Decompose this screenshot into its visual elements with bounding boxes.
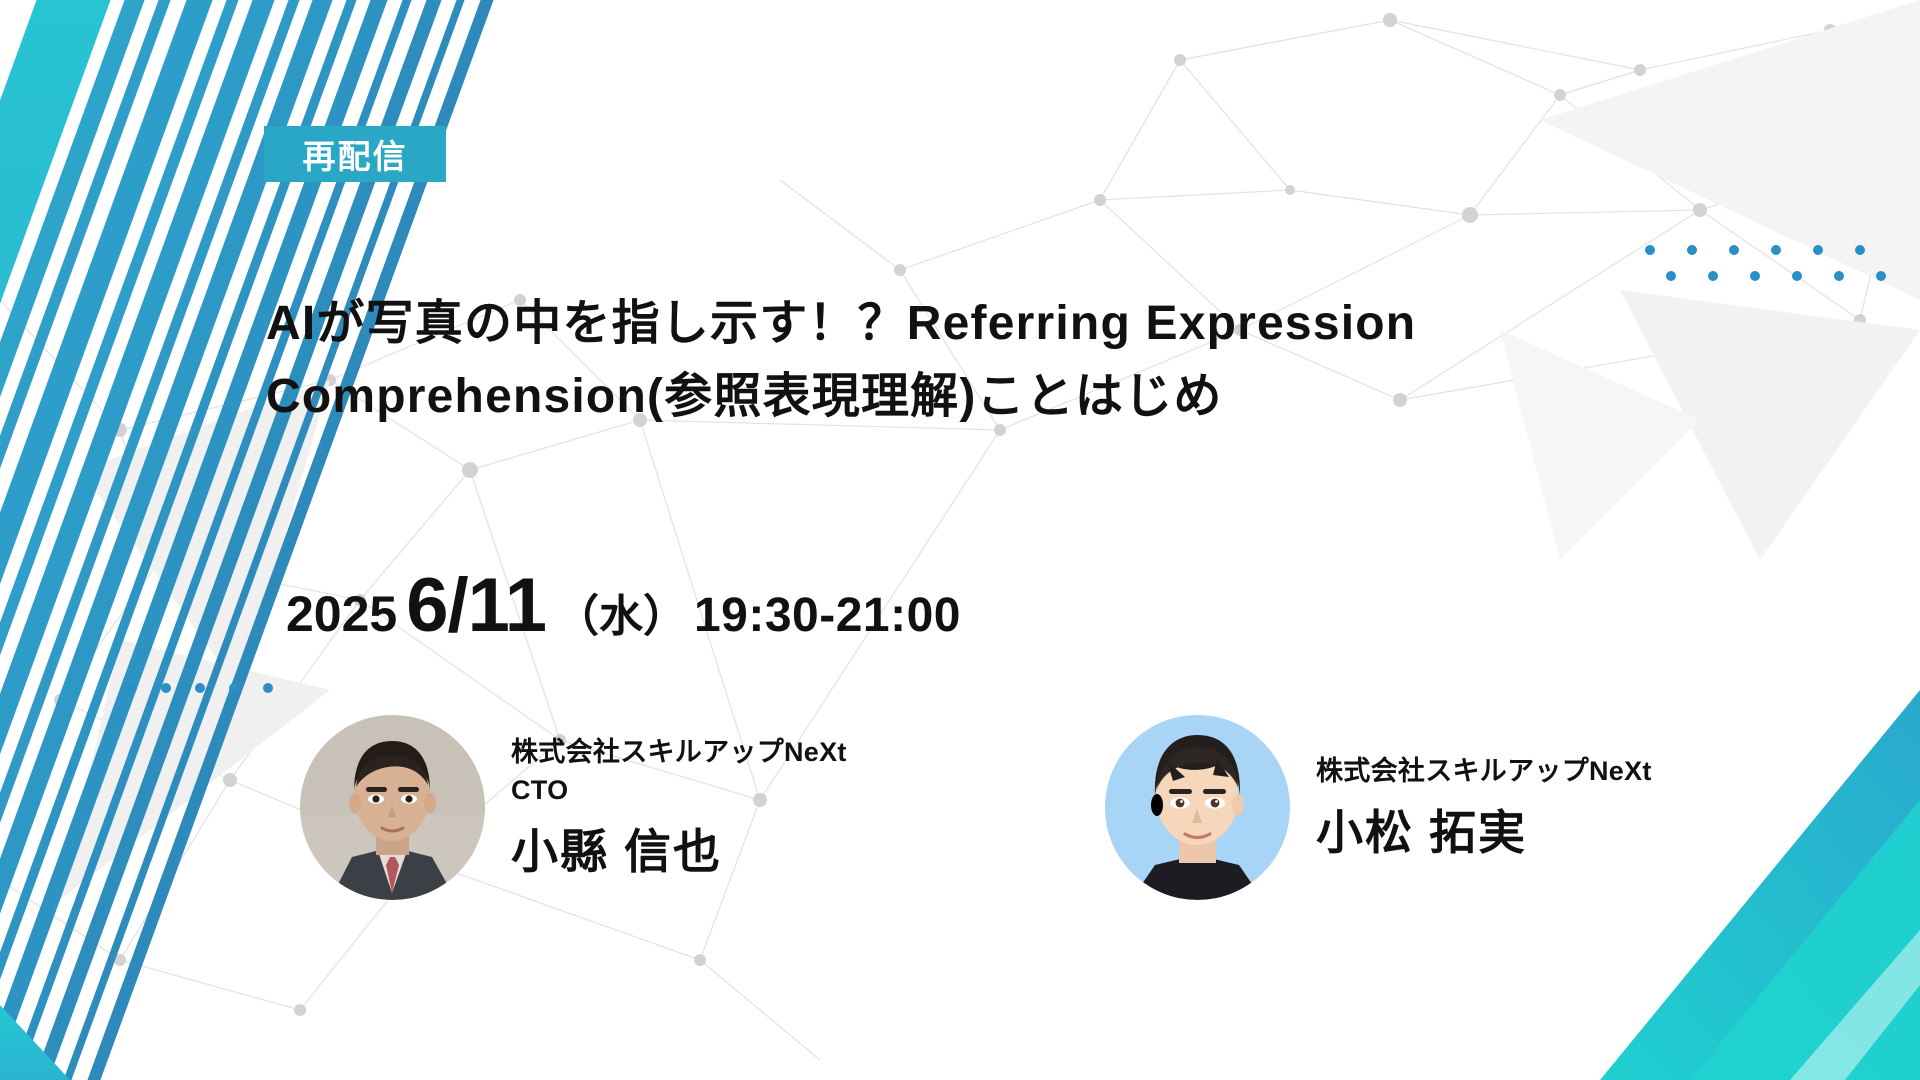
webinar-banner: 再配信 AIが写真の中を指し示す！？Referring Expression C…: [0, 0, 1920, 1080]
speaker-photo-ogata: [300, 715, 485, 900]
speaker-role-1: CTO: [511, 771, 847, 809]
speaker-org-2: 株式会社スキルアップNeXt: [1316, 752, 1652, 790]
status-badge: 再配信: [264, 126, 446, 182]
speaker-card-1: 株式会社スキルアップNeXt CTO 小縣 信也: [300, 715, 847, 900]
title-line-2: Comprehension(参照表現理解)ことはじめ: [266, 361, 1826, 434]
speaker-card-2: 株式会社スキルアップNeXt 小松 拓実: [1105, 715, 1652, 900]
event-day: 6/11: [406, 562, 546, 649]
event-datetime: 2025 6/11 （水） 19:30-21:00: [286, 562, 961, 649]
event-time: 19:30-21:00: [694, 588, 961, 643]
event-year: 2025: [286, 585, 397, 643]
page-title: AIが写真の中を指し示す！？Referring Expression Compr…: [266, 288, 1826, 434]
speaker-info-2: 株式会社スキルアップNeXt 小松 拓実: [1316, 752, 1652, 863]
speaker-name-1: 小縣 信也: [511, 813, 847, 882]
speaker-org-1: 株式会社スキルアップNeXt: [511, 733, 847, 771]
speaker-info-1: 株式会社スキルアップNeXt CTO 小縣 信也: [511, 733, 847, 883]
speaker-name-2: 小松 拓実: [1316, 794, 1652, 863]
banner-content: 再配信 AIが写真の中を指し示す！？Referring Expression C…: [0, 0, 1920, 1080]
speaker-photo-komatsu: [1105, 715, 1290, 900]
event-day-of-week: （水）: [555, 580, 687, 644]
title-line-1: AIが写真の中を指し示す！？Referring Expression: [266, 288, 1826, 361]
